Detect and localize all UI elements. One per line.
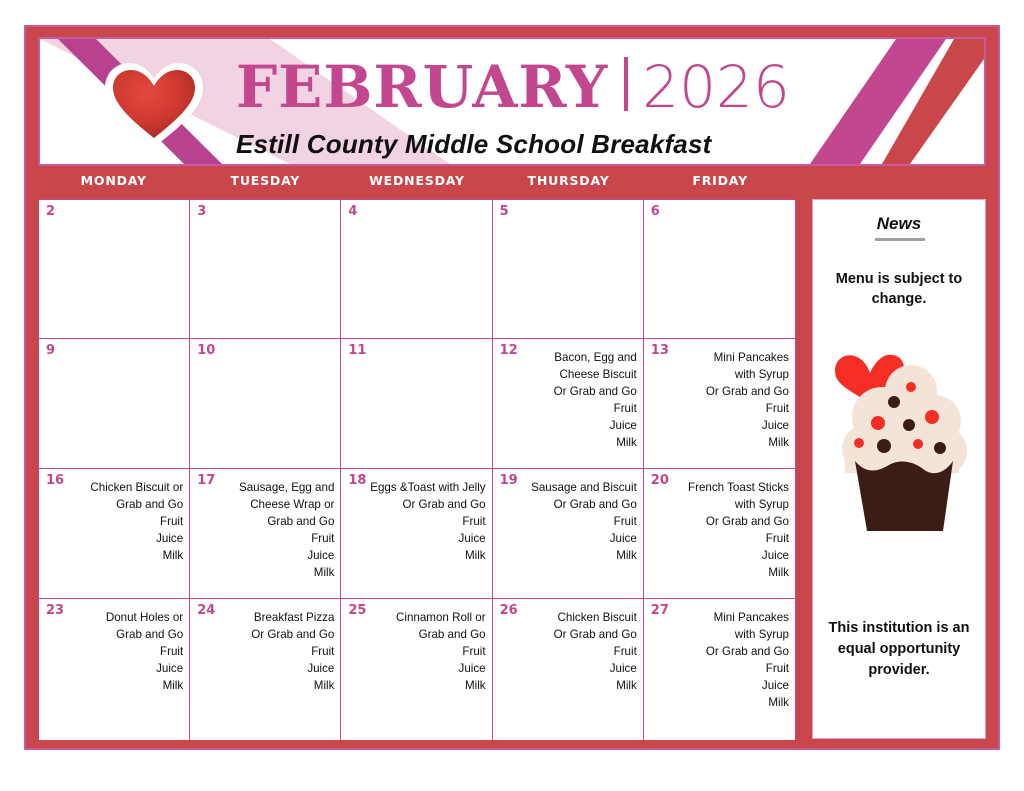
day-menu: Cinnamon Roll or Grab and Go Fruit Juice…	[357, 609, 485, 694]
weekday-wednesday: WEDNESDAY	[341, 173, 493, 199]
header-banner: FEBRUARY 2026 Estill County Middle Schoo…	[38, 37, 986, 166]
day-cell[interactable]: 23 Donut Holes or Grab and Go Fruit Juic…	[39, 599, 190, 740]
day-menu: French Toast Sticks with Syrup Or Grab a…	[660, 479, 789, 581]
day-cell[interactable]: 13 Mini Pancakes with Syrup Or Grab and …	[644, 339, 795, 469]
day-menu: Chicken Biscuit Or Grab and Go Fruit Jui…	[509, 609, 637, 694]
day-menu: Mini Pancakes with Syrup Or Grab and Go …	[660, 349, 789, 451]
day-cell[interactable]: 10	[190, 339, 341, 469]
day-menu: Eggs &Toast with Jelly Or Grab and Go Fr…	[357, 479, 485, 564]
day-cell[interactable]: 25 Cinnamon Roll or Grab and Go Fruit Ju…	[341, 599, 492, 740]
day-cell[interactable]: 6	[644, 200, 795, 339]
weekday-friday: FRIDAY	[644, 173, 796, 199]
day-menu: Breakfast Pizza Or Grab and Go Fruit Jui…	[206, 609, 334, 694]
news-title: News	[813, 214, 985, 234]
weekday-tuesday: TUESDAY	[190, 173, 342, 199]
day-cell[interactable]: 4	[341, 200, 492, 339]
day-number: 2	[46, 204, 55, 219]
day-cell[interactable]: 26 Chicken Biscuit Or Grab and Go Fruit …	[493, 599, 644, 740]
day-cell[interactable]: 12 Bacon, Egg and Cheese Biscuit Or Grab…	[493, 339, 644, 469]
page-title-year: 2026	[642, 58, 790, 116]
weekday-header-row: MONDAY TUESDAY WEDNESDAY THURSDAY FRIDAY	[38, 173, 796, 199]
calendar-page: FEBRUARY 2026 Estill County Middle Schoo…	[0, 0, 1024, 791]
weekday-thursday: THURSDAY	[493, 173, 645, 199]
heart-icon	[102, 61, 206, 149]
day-number: 4	[348, 204, 357, 219]
day-menu: Sausage, Egg and Cheese Wrap or Grab and…	[206, 479, 334, 581]
day-cell[interactable]: 5	[493, 200, 644, 339]
day-number: 9	[46, 343, 55, 358]
day-cell[interactable]: 3	[190, 200, 341, 339]
page-subtitle: Estill County Middle School Breakfast	[236, 129, 711, 160]
day-cell[interactable]: 11	[341, 339, 492, 469]
cupcake-with-heart-icon	[827, 345, 977, 535]
header-title-row: FEBRUARY 2026	[236, 53, 790, 116]
day-menu: Donut Holes or Grab and Go Fruit Juice M…	[55, 609, 183, 694]
page-title-month: FEBRUARY	[236, 58, 608, 116]
day-cell[interactable]: 9	[39, 339, 190, 469]
day-number: 3	[197, 204, 206, 219]
day-cell[interactable]: 2	[39, 200, 190, 339]
title-divider	[624, 57, 628, 111]
day-menu: Chicken Biscuit or Grab and Go Fruit Jui…	[55, 479, 183, 564]
day-menu: Sausage and Biscuit Or Grab and Go Fruit…	[509, 479, 637, 564]
day-number: 6	[651, 204, 660, 219]
day-cell[interactable]: 24 Breakfast Pizza Or Grab and Go Fruit …	[190, 599, 341, 740]
day-cell[interactable]: 16 Chicken Biscuit or Grab and Go Fruit …	[39, 469, 190, 599]
news-footer-text: This institution is an equal opportunity…	[821, 618, 977, 681]
calendar-grid: 2 3 4 5 6 9 10 11	[38, 199, 796, 739]
day-cell[interactable]: 18 Eggs &Toast with Jelly Or Grab and Go…	[341, 469, 492, 599]
news-title-underline	[875, 238, 925, 241]
day-cell[interactable]: 19 Sausage and Biscuit Or Grab and Go Fr…	[493, 469, 644, 599]
weekday-monday: MONDAY	[38, 173, 190, 199]
news-note: Menu is subject to change.	[823, 269, 975, 309]
day-number: 10	[197, 343, 215, 358]
day-number: 5	[500, 204, 509, 219]
day-menu: Mini Pancakes with Syrup Or Grab and Go …	[660, 609, 789, 711]
day-number: 11	[348, 343, 366, 358]
day-cell[interactable]: 27 Mini Pancakes with Syrup Or Grab and …	[644, 599, 795, 740]
day-cell[interactable]: 20 French Toast Sticks with Syrup Or Gra…	[644, 469, 795, 599]
news-panel: News Menu is subject to change.	[812, 199, 986, 739]
day-cell[interactable]: 17 Sausage, Egg and Cheese Wrap or Grab …	[190, 469, 341, 599]
day-menu: Bacon, Egg and Cheese Biscuit Or Grab an…	[509, 349, 637, 451]
